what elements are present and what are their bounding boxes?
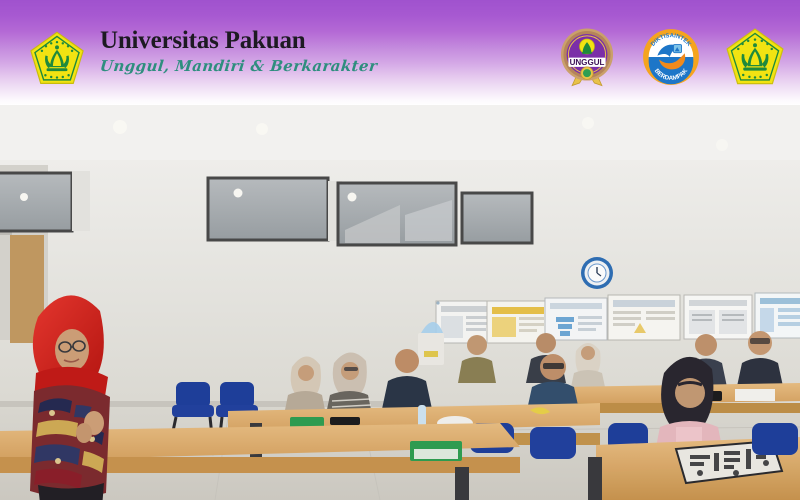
svg-text:UNGGUL: UNGGUL (570, 58, 605, 67)
page-title: Universitas Pakuan (100, 28, 377, 54)
unggul-accreditation-logo: UNGGUL (556, 26, 618, 88)
universitas-pakuan-crest-icon (28, 30, 86, 88)
promo-banner-page: Universitas Pakuan Unggul, Mandiri & Ber… (0, 0, 800, 500)
brand-text-block: Universitas Pakuan Unggul, Mandiri & Ber… (100, 28, 377, 75)
universitas-pakuan-seal-logo (724, 26, 786, 88)
unggul-label-wrap: UNGGUL (568, 58, 605, 67)
diktisaintek-berdampak-logo: DIKTISAINTEK BERDAMPAK (640, 26, 702, 88)
classroom-training-photo (0, 105, 800, 500)
brand-tagline: Unggul, Mandiri & Berkarakter (99, 58, 378, 75)
accreditation-logo-group: UNGGUL (556, 26, 786, 88)
site-header: Universitas Pakuan Unggul, Mandiri & Ber… (0, 0, 800, 105)
